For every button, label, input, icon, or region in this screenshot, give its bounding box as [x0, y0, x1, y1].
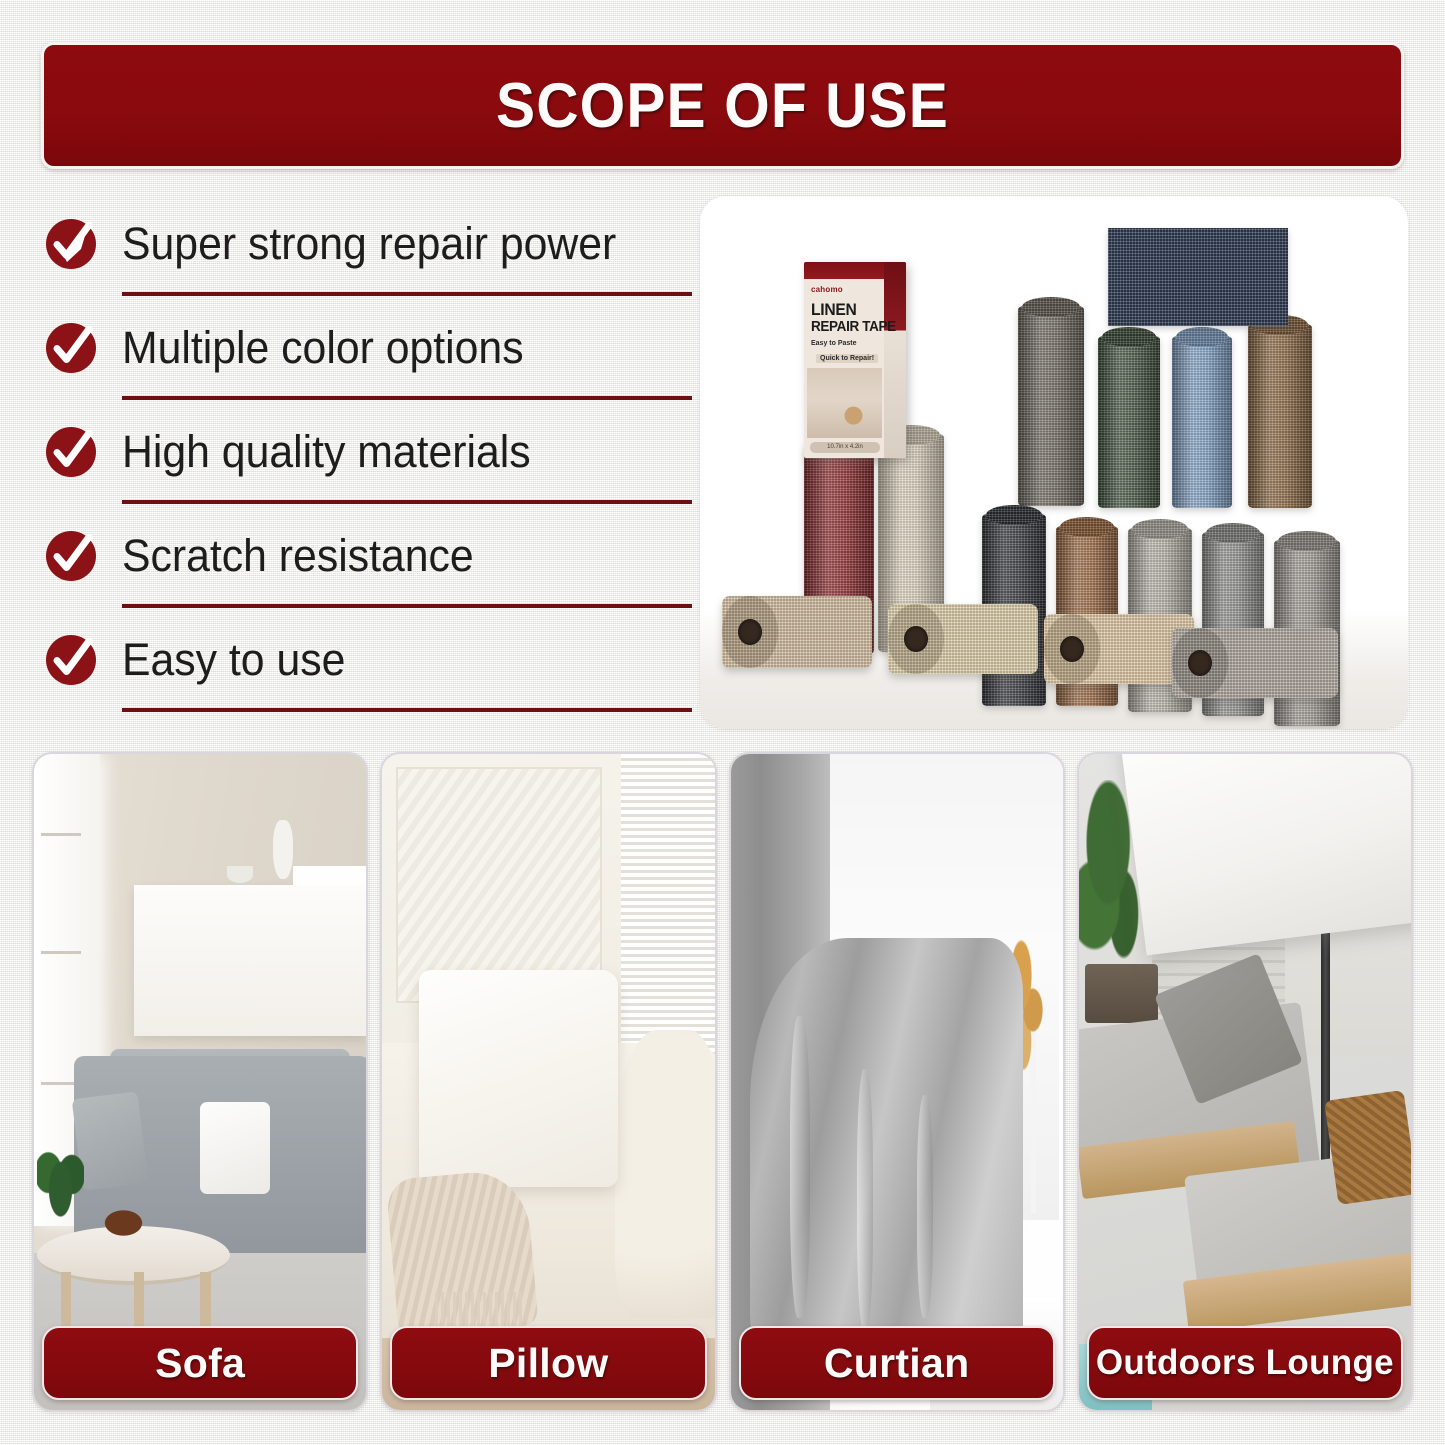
roll-core-hole [1188, 650, 1212, 676]
product-photo: cahomo LINEN REPAIR TAPE Easy to Paste Q… [700, 196, 1408, 729]
tape-roll-green [1098, 336, 1160, 508]
roll-shading [1248, 324, 1312, 508]
page-title: SCOPE OF USE [496, 70, 949, 142]
feature-label: High quality materials [122, 426, 531, 478]
check-circle-icon [44, 529, 98, 583]
card-label-curtain: Curtian [739, 1326, 1055, 1400]
use-case-card-grid: Sofa Pillow [32, 752, 1413, 1412]
use-case-card-curtain[interactable]: Curtian [729, 752, 1065, 1412]
tape-swatch-navy [1108, 228, 1288, 326]
curtain-photo [731, 754, 1063, 1410]
roll-shading [1018, 306, 1084, 506]
box-badge-quick-to-repair: Quick to Repair! [816, 354, 878, 363]
box-title-line1: LINEN [811, 300, 857, 320]
scope-of-use-infographic: SCOPE OF USE Super strong repair power M… [0, 0, 1445, 1445]
tape-roll-light-blue [1172, 336, 1232, 508]
roll-core-hole [1219, 528, 1246, 540]
roll-core-hole [1000, 510, 1028, 522]
roll-core-hole [1189, 332, 1215, 344]
use-case-card-pillow[interactable]: Pillow [380, 752, 716, 1412]
tape-roll-brown [1248, 324, 1312, 508]
tape-roll-lying-sand [888, 604, 1038, 674]
brand-logo: cahomo [811, 285, 843, 294]
card-label-sofa: Sofa [42, 1326, 358, 1400]
check-circle-icon [44, 217, 98, 271]
roll-core-hole [1292, 536, 1321, 548]
roll-core-hole [1036, 302, 1065, 314]
roll-shading [1172, 336, 1232, 508]
tape-roll-lying-tan [722, 596, 872, 668]
check-circle-icon [44, 633, 98, 687]
sofa-photo [34, 754, 366, 1410]
roll-core-hole [1073, 522, 1100, 534]
feature-label: Multiple color options [122, 322, 524, 374]
feature-divider [122, 708, 692, 712]
feature-label: Scratch resistance [122, 530, 474, 582]
feature-label: Easy to use [122, 634, 345, 686]
feature-item: Scratch resistance [44, 504, 684, 608]
feature-item: High quality materials [44, 400, 684, 504]
roll-end-face [1044, 614, 1100, 684]
tape-roll-lying-grey [1172, 628, 1338, 698]
card-label-pillow: Pillow [390, 1326, 706, 1400]
product-box: cahomo LINEN REPAIR TAPE Easy to Paste Q… [804, 262, 906, 458]
feature-item: Easy to use [44, 608, 684, 712]
roll-end-face [722, 596, 778, 668]
box-spec-text: 10.7in x 4.2in [810, 442, 880, 453]
check-circle-icon [44, 321, 98, 375]
feature-item: Super strong repair power [44, 192, 684, 296]
tape-roll-dark-grey [1018, 306, 1084, 506]
roll-core-hole [1146, 524, 1174, 536]
roll-core-hole [738, 619, 762, 645]
title-banner: SCOPE OF USE [41, 42, 1404, 169]
roll-end-face [1172, 628, 1228, 698]
box-title-line2: REPAIR TAPE [811, 318, 896, 335]
roll-core-hole [904, 626, 928, 652]
check-circle-icon [44, 425, 98, 479]
feature-item: Multiple color options [44, 296, 684, 400]
outdoors-lounge-photo [1079, 754, 1411, 1410]
use-case-card-outdoors-lounge[interactable]: Outdoors Lounge [1077, 752, 1413, 1412]
feature-list: Super strong repair power Multiple color… [44, 192, 684, 732]
box-badge-easy-to-paste: Easy to Paste [811, 340, 857, 347]
box-lifestyle-photo [807, 368, 882, 438]
feature-label: Super strong repair power [122, 218, 616, 270]
roll-shading [1098, 336, 1160, 508]
roll-core-hole [1115, 332, 1142, 344]
roll-core-hole [1060, 636, 1084, 662]
box-side-panel [884, 262, 906, 458]
roll-end-face [888, 604, 944, 674]
card-label-outdoors-lounge: Outdoors Lounge [1087, 1326, 1403, 1400]
use-case-card-sofa[interactable]: Sofa [32, 752, 368, 1412]
pillow-photo [382, 754, 714, 1410]
product-photo-panel: cahomo LINEN REPAIR TAPE Easy to Paste Q… [700, 196, 1408, 729]
